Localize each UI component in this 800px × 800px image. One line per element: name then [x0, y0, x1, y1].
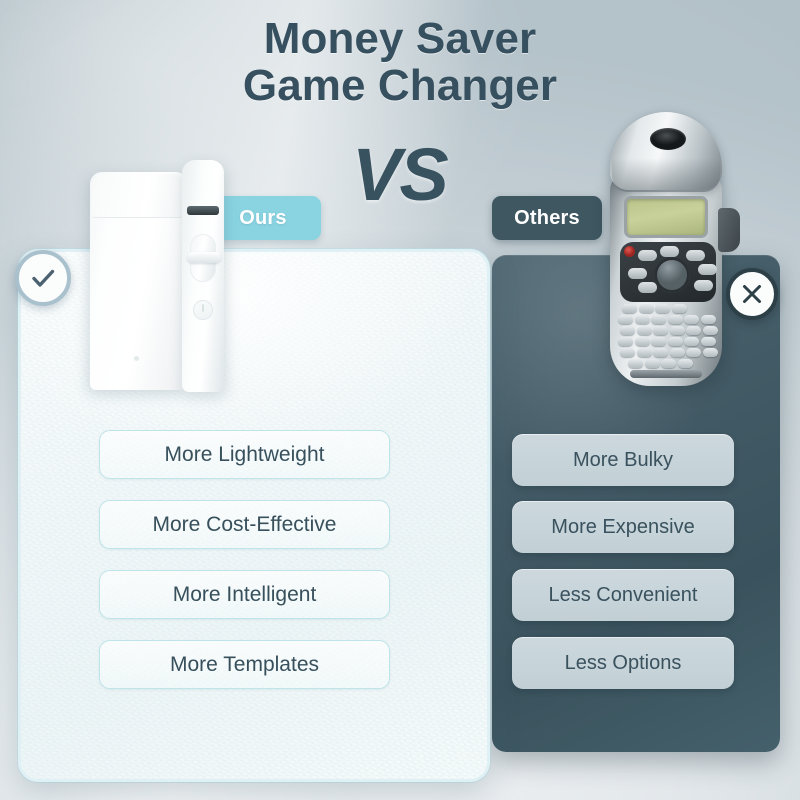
tab-ours-label: Ours — [239, 207, 286, 230]
others-feature-label: Less Options — [565, 652, 682, 675]
printer-indicator-dot — [134, 356, 139, 361]
ours-feature-pill: More Intelligent — [99, 570, 390, 619]
labelmaker-key — [635, 315, 650, 324]
labelmaker-key — [668, 315, 683, 324]
labelmaker-function-button — [694, 280, 713, 291]
labelmaker-key — [661, 359, 676, 368]
labelmaker-function-button — [686, 250, 705, 261]
labelmaker-key — [635, 337, 650, 346]
labelmaker-function-button — [638, 282, 657, 293]
labelmaker-lid-shade — [612, 158, 720, 192]
labelmaker-key — [637, 326, 652, 335]
labelmaker-key — [686, 326, 701, 335]
printer-paper-slot — [187, 206, 219, 215]
labelmaker-cartridge-window — [650, 128, 686, 150]
printer-power-button — [193, 300, 213, 320]
labelmaker-key — [620, 326, 635, 335]
labelmaker-function-button — [628, 268, 647, 279]
ours-product-image — [90, 160, 220, 390]
labelmaker-key — [684, 315, 699, 324]
labelmaker-key — [686, 348, 701, 357]
labelmaker-key — [645, 359, 660, 368]
others-feature-label: More Bulky — [573, 449, 673, 472]
check-icon — [15, 250, 71, 306]
labelmaker-key — [651, 337, 666, 346]
labelmaker-key — [637, 348, 652, 357]
others-feature-pill: More Bulky — [512, 434, 734, 486]
vs-label: VS — [352, 132, 447, 217]
labelmaker-key — [651, 315, 666, 324]
labelmaker-key — [653, 348, 668, 357]
labelmaker-key — [620, 348, 635, 357]
labelmaker-key — [668, 337, 683, 346]
printer-knob-bar — [187, 252, 221, 263]
ours-feature-label: More Cost-Effective — [152, 513, 336, 537]
labelmaker-key — [653, 326, 668, 335]
labelmaker-function-button — [698, 264, 717, 275]
labelmaker-key — [622, 304, 637, 313]
ours-feature-label: More Templates — [170, 653, 319, 677]
labelmaker-keyboard — [618, 304, 718, 368]
title-line-2: Game Changer — [0, 63, 800, 110]
printer-top-cover — [92, 174, 184, 218]
others-feature-label: Less Convenient — [549, 584, 698, 607]
labelmaker-key — [672, 304, 687, 313]
labelmaker-key — [701, 337, 716, 346]
labelmaker-key — [655, 304, 670, 313]
labelmaker-dpad — [654, 257, 690, 293]
ours-feature-label: More Lightweight — [165, 443, 325, 467]
labelmaker-key — [670, 326, 685, 335]
labelmaker-key — [703, 326, 718, 335]
others-product-image — [598, 112, 740, 390]
tab-others-label: Others — [514, 207, 580, 230]
others-feature-pill: More Expensive — [512, 501, 734, 553]
others-feature-pill: Less Convenient — [512, 569, 734, 621]
labelmaker-key — [701, 315, 716, 324]
title-line-1: Money Saver — [264, 14, 537, 63]
labelmaker-key — [703, 348, 718, 357]
labelmaker-key — [618, 315, 633, 324]
ours-feature-label: More Intelligent — [173, 583, 317, 607]
labelmaker-key — [628, 359, 643, 368]
ours-feature-pill: More Templates — [99, 640, 390, 689]
others-feature-label: More Expensive — [551, 516, 694, 539]
labelmaker-key — [618, 337, 633, 346]
labelmaker-power-button — [624, 246, 635, 257]
ours-feature-pill: More Lightweight — [99, 430, 390, 479]
labelmaker-lcd-screen — [624, 196, 708, 238]
page-title: Money Saver Game Changer — [0, 16, 800, 109]
labelmaker-key — [678, 359, 693, 368]
tab-others[interactable]: Others — [492, 196, 602, 240]
labelmaker-side-tab — [718, 208, 740, 252]
labelmaker-function-button — [638, 250, 657, 261]
labelmaker-key — [639, 304, 654, 313]
others-feature-pill: Less Options — [512, 637, 734, 689]
labelmaker-key — [684, 337, 699, 346]
x-icon — [726, 268, 778, 320]
ours-feature-pill: More Cost-Effective — [99, 500, 390, 549]
labelmaker-function-button — [660, 246, 679, 257]
labelmaker-key — [670, 348, 685, 357]
labelmaker-base-strip — [630, 370, 702, 378]
